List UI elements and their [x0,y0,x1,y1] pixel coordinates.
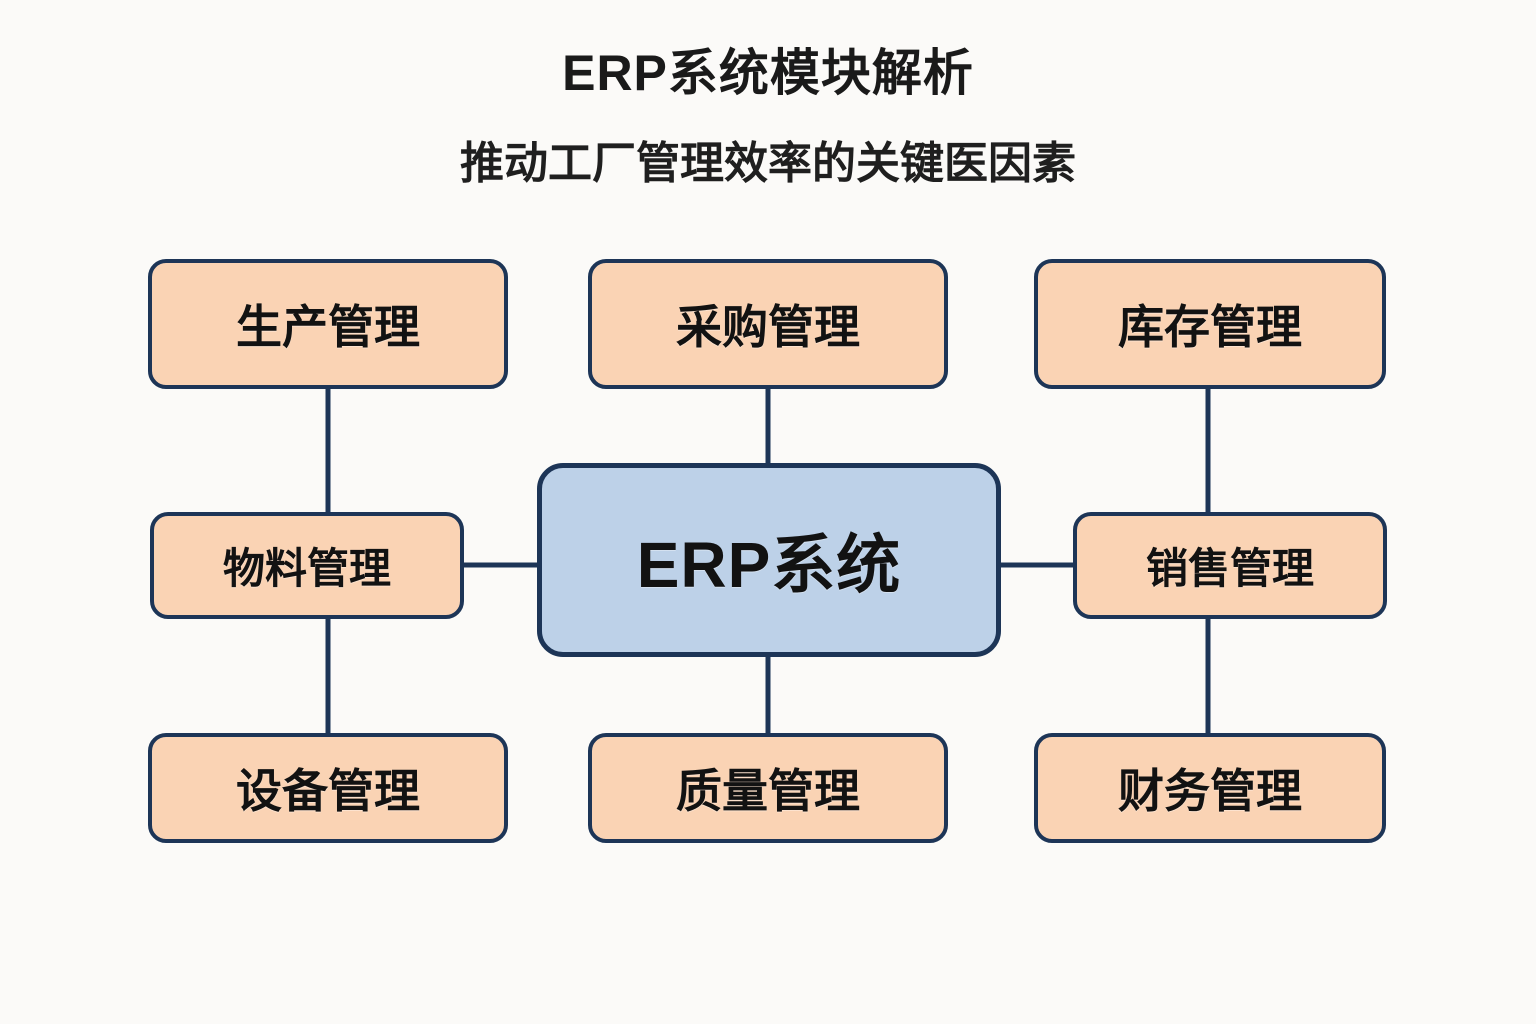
module-label: 财务管理 [1118,755,1302,821]
module-node-equipment[interactable]: 设备管理 [148,733,508,843]
module-label: 库存管理 [1118,291,1302,357]
module-node-purchasing[interactable]: 采购管理 [588,259,948,389]
module-node-inventory[interactable]: 库存管理 [1034,259,1386,389]
module-node-quality[interactable]: 质量管理 [588,733,948,843]
module-label: 销售管理 [1146,535,1314,596]
module-label: 设备管理 [236,755,420,821]
module-label: 质量管理 [676,755,860,821]
module-label: 物料管理 [223,535,391,596]
module-node-sales[interactable]: 销售管理 [1073,512,1387,619]
diagram-canvas: ERP系统模块解析 推动工厂管理效率的关键医因素 生产管理 采购管理 库存管理 … [0,0,1536,1024]
module-label: 采购管理 [676,291,860,357]
module-node-production[interactable]: 生产管理 [148,259,508,389]
module-node-finance[interactable]: 财务管理 [1034,733,1386,843]
hub-node-erp-system[interactable]: ERP系统 [537,463,1001,657]
module-label: 生产管理 [236,291,420,357]
hub-label: ERP系统 [637,514,902,606]
module-node-material[interactable]: 物料管理 [150,512,464,619]
